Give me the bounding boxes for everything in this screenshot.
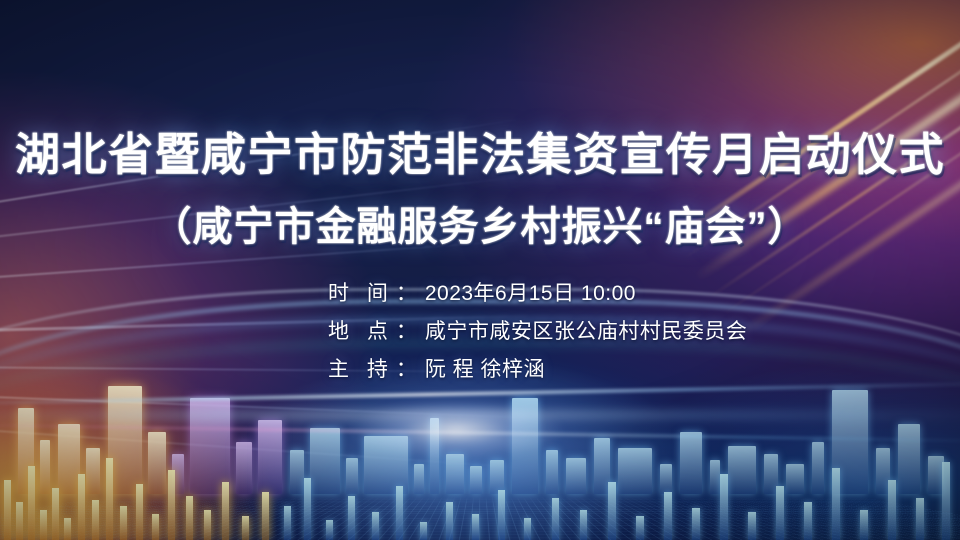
poster-title: 湖北省暨咸宁市防范非法集资宣传月启动仪式 [0,118,960,183]
detail-colon-location: ： [396,315,417,345]
poster-subtitle: （咸宁市金融服务乡村振兴“庙会”） [0,194,960,252]
detail-label-time: 时 间 [328,277,394,307]
event-details: 时 间 ： 2023年6月15日 10:00 地 点 ： 咸宁市咸安区张公庙村村… [328,277,747,383]
poster-content: 湖北省暨咸宁市防范非法集资宣传月启动仪式 （咸宁市金融服务乡村振兴“庙会”） 时… [0,0,960,540]
event-poster: 湖北省暨咸宁市防范非法集资宣传月启动仪式 （咸宁市金融服务乡村振兴“庙会”） 时… [0,0,960,540]
detail-value-host: 阮 程 徐梓涵 [425,353,545,383]
detail-colon-time: ： [396,277,417,307]
detail-label-host: 主 持 [328,353,394,383]
detail-label-location: 地 点 [328,315,394,345]
detail-colon-host: ： [396,353,417,383]
detail-row-host: 主 持 ： 阮 程 徐梓涵 [328,353,747,383]
detail-row-time: 时 间 ： 2023年6月15日 10:00 [328,277,747,307]
detail-row-location: 地 点 ： 咸宁市咸安区张公庙村村民委员会 [328,315,747,345]
detail-value-time: 2023年6月15日 10:00 [425,277,636,307]
detail-value-location: 咸宁市咸安区张公庙村村民委员会 [425,315,748,345]
